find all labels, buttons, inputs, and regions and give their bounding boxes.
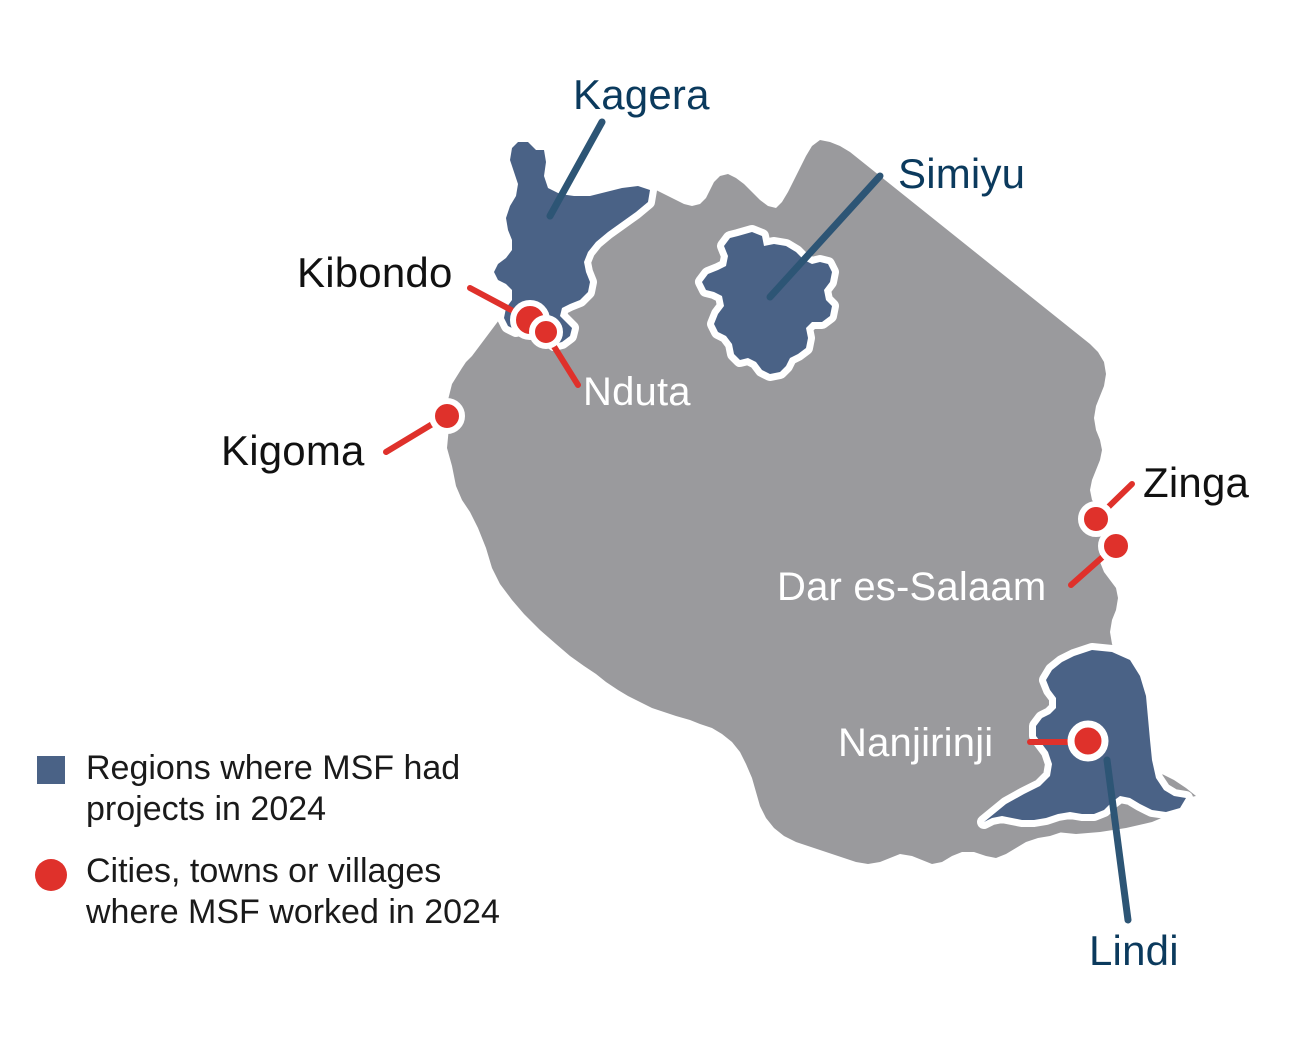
legend-item-cities: Cities, towns or villages where MSF work… xyxy=(34,851,654,934)
legend-regions-line2: projects in 2024 xyxy=(86,789,460,830)
region-label-simiyu: Simiyu xyxy=(898,153,1025,195)
legend-cities-line2: where MSF worked in 2024 xyxy=(86,892,500,933)
region-label-kagera: Kagera xyxy=(573,74,710,116)
legend-marker-cities xyxy=(34,851,68,891)
city-dot-nduta[interactable] xyxy=(532,318,560,346)
city-label-nanjirinji: Nanjirinji xyxy=(838,723,993,763)
circle-dot-icon xyxy=(35,859,67,891)
legend: Regions where MSF had projects in 2024 C… xyxy=(34,748,654,954)
legend-item-regions: Regions where MSF had projects in 2024 xyxy=(34,748,654,831)
city-label-zinga: Zinga xyxy=(1143,462,1249,504)
legend-text-regions: Regions where MSF had projects in 2024 xyxy=(86,748,460,831)
city-dot-zinga[interactable] xyxy=(1081,504,1111,534)
city-label-kigoma: Kigoma xyxy=(221,430,365,472)
city-label-kibondo: Kibondo xyxy=(297,252,453,294)
region-label-lindi: Lindi xyxy=(1089,930,1179,972)
city-dot-kigoma[interactable] xyxy=(432,401,462,431)
city-dot-dar-es-salaam[interactable] xyxy=(1101,531,1131,561)
city-label-nduta: Nduta xyxy=(583,372,691,412)
legend-text-cities: Cities, towns or villages where MSF work… xyxy=(86,851,500,934)
square-swatch-icon xyxy=(37,756,65,784)
city-dot-nanjirinji[interactable] xyxy=(1071,724,1105,758)
legend-cities-line1: Cities, towns or villages xyxy=(86,851,500,892)
city-label-dar-es-salaam: Dar es-Salaam xyxy=(777,567,1046,607)
legend-marker-regions xyxy=(34,748,68,784)
map-figure: Kagera Simiyu Lindi Kibondo Nduta Kigoma… xyxy=(0,0,1316,1050)
legend-regions-line1: Regions where MSF had xyxy=(86,748,460,789)
